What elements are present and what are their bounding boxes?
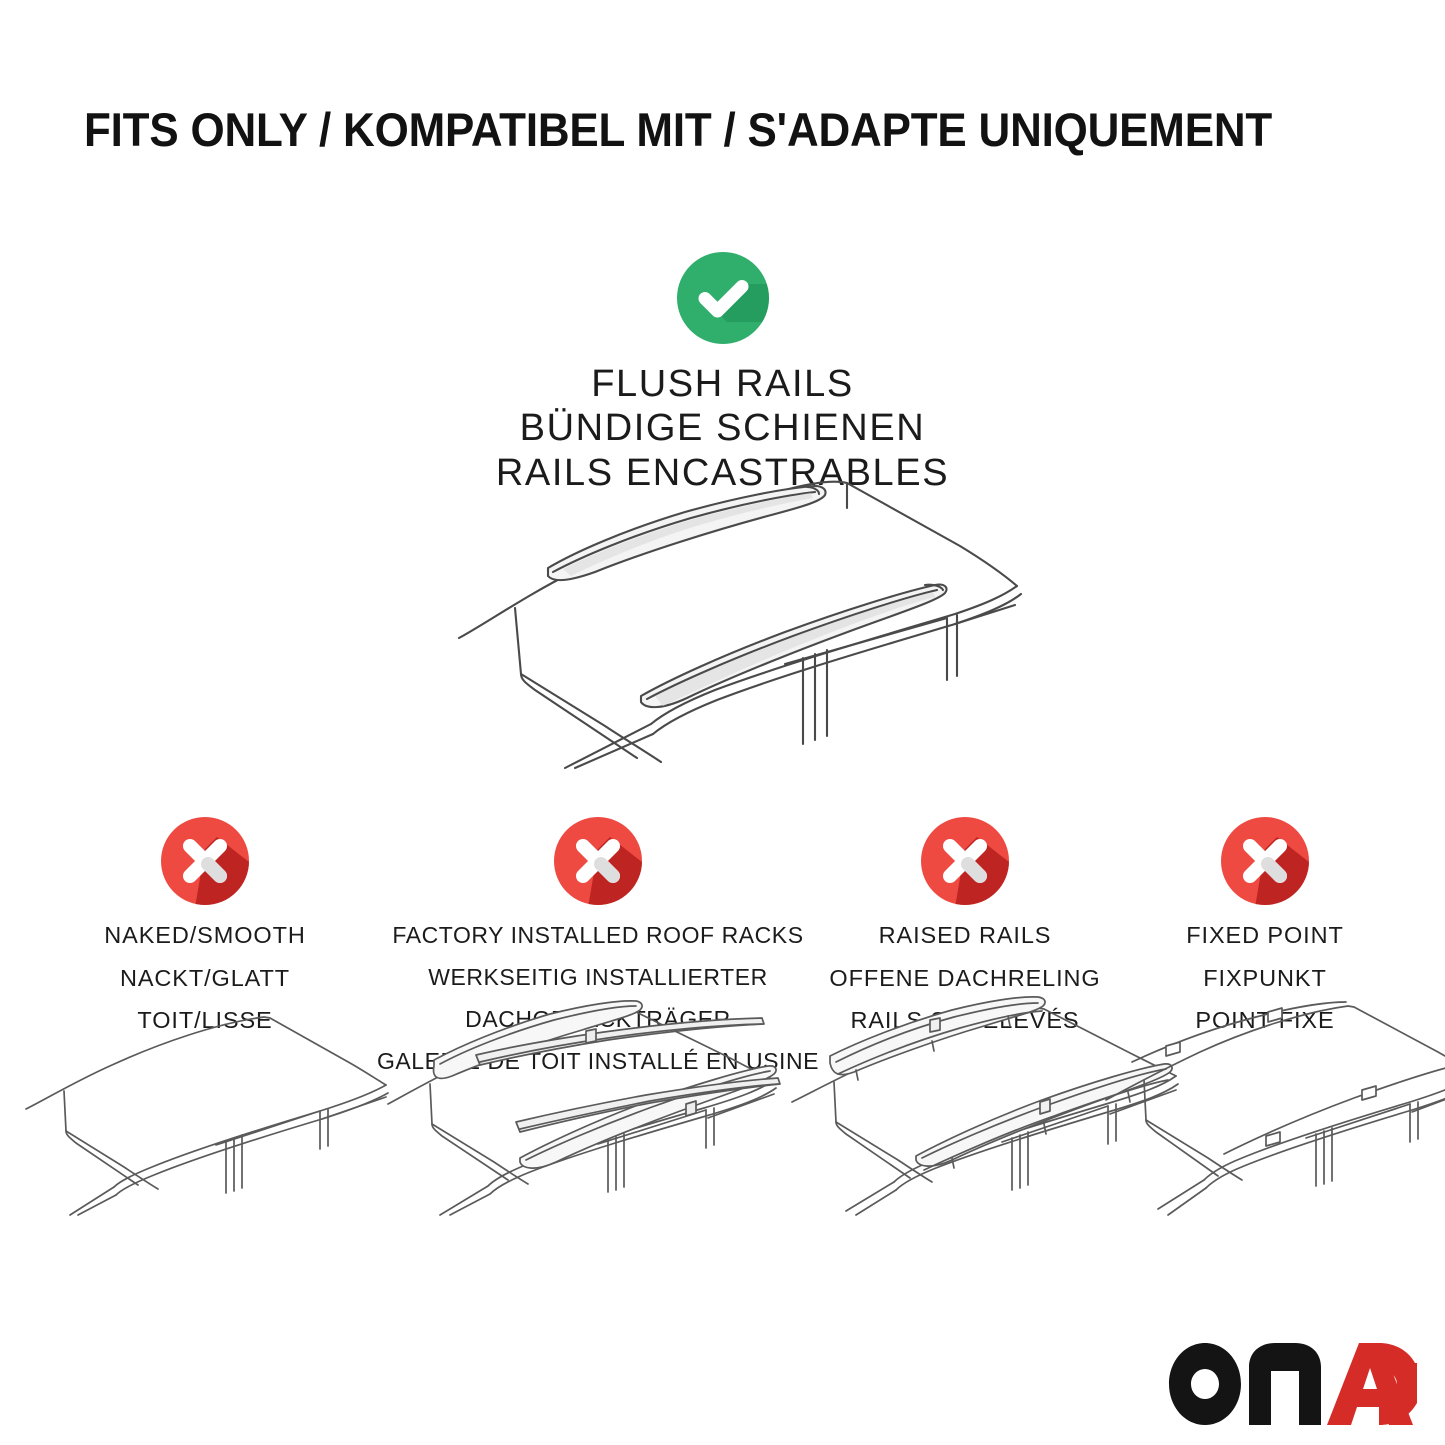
logo-letter-o	[1169, 1343, 1241, 1425]
incompatible-item-fixed-point: FIXED POINT FIXPUNKT POINT FIXE	[1118, 815, 1412, 1035]
label-line-1: FACTORY INSTALLED ROOF RACKS	[370, 921, 826, 949]
car-roof-flush-rails-illustration	[455, 468, 1025, 768]
incompatible-item-factory-roof-racks: FACTORY INSTALLED ROOF RACKS WERKSEITIG …	[370, 815, 826, 1075]
label-line-2: OFFENE DACHRELING	[812, 964, 1118, 993]
x-circle-icon	[159, 815, 251, 907]
label-line-1: NAKED/SMOOTH	[20, 921, 390, 950]
label-line-2: NACKT/GLATT	[20, 964, 390, 993]
logo-letter-m	[1249, 1343, 1321, 1425]
compatible-section: FLUSH RAILS BÜNDIGE SCHIENEN RAILS ENCAS…	[0, 250, 1445, 495]
fitment-compatibility-graphic: FITS ONLY / KOMPATIBEL MIT / S'ADAPTE UN…	[0, 0, 1445, 1445]
x-circle-icon	[1219, 815, 1311, 907]
car-roof-raised-rails-illustration	[812, 1000, 1118, 1215]
car-roof-fixed-point-illustration	[1118, 1000, 1412, 1215]
compatible-label-en: FLUSH RAILS	[0, 362, 1445, 406]
incompatible-item-raised-rails: RAISED RAILS OFFENE DACHRELING RAILS SUR…	[812, 815, 1118, 1035]
label-line-2: WERKSEITIG INSTALLIERTER	[370, 963, 826, 991]
label-line-1: FIXED POINT	[1118, 921, 1412, 950]
page-title: FITS ONLY / KOMPATIBEL MIT / S'ADAPTE UN…	[84, 106, 1290, 153]
car-roof-naked-illustration	[20, 1015, 390, 1215]
incompatible-item-naked-smooth: NAKED/SMOOTH NACKT/GLATT TOIT/LISSE	[20, 815, 390, 1035]
x-circle-icon	[552, 815, 644, 907]
check-circle-icon	[675, 250, 771, 346]
label-line-1: RAISED RAILS	[812, 921, 1118, 950]
omac-logo	[1167, 1341, 1417, 1427]
compatible-label-de: BÜNDIGE SCHIENEN	[0, 406, 1445, 450]
label-line-2: FIXPUNKT	[1118, 964, 1412, 993]
car-roof-factory-racks-illustration	[370, 1000, 826, 1215]
x-circle-icon	[919, 815, 1011, 907]
